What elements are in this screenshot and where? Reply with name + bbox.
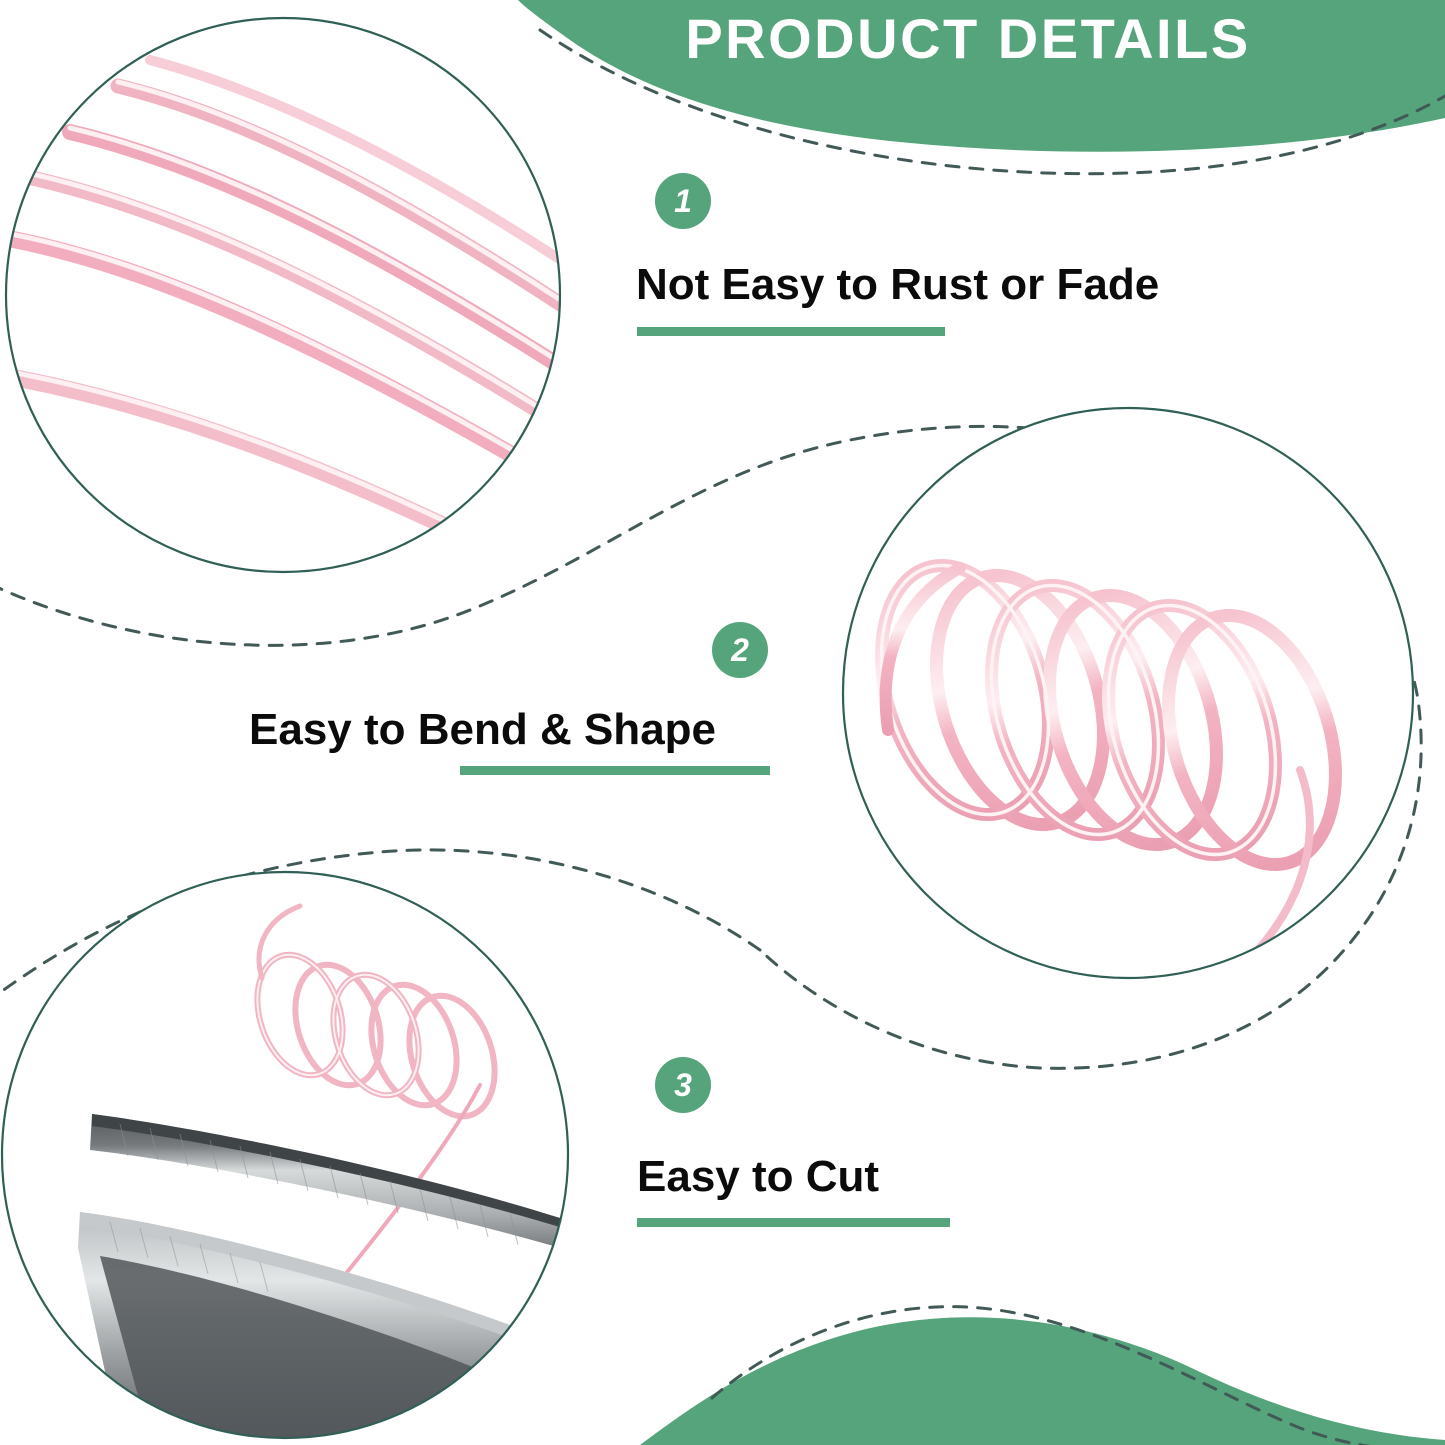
feature-title-2: Easy to Bend & Shape [249, 705, 716, 755]
feature-underline-3 [637, 1218, 950, 1227]
lower-blade [78, 1212, 610, 1440]
dashed-curve-around-coil [760, 470, 1421, 1068]
product-details-infographic: PRODUCT DETAILS 1 Not Easy to Rust or Fa… [0, 0, 1445, 1445]
feature-title-1: Not Easy to Rust or Fade [636, 260, 1159, 310]
step-number-badge-3: 3 [655, 1057, 711, 1113]
step-number-badge-1: 1 [655, 173, 711, 229]
page-title: PRODUCT DETAILS [618, 6, 1318, 71]
pink-wire-strands-photo [0, 18, 620, 604]
decorative-shapes-layer [0, 0, 1445, 1445]
feature-underline-1 [637, 327, 945, 336]
dashed-curve-lower-left [0, 850, 760, 1000]
upper-blade [90, 1114, 585, 1255]
pink-wire-coil-photo [843, 408, 1413, 1052]
wire-cutting-pliers-photo [2, 872, 610, 1440]
dashed-curve-bottom [712, 1307, 1445, 1445]
feature-underline-2 [460, 766, 770, 775]
step-number-badge-2: 2 [712, 622, 768, 678]
footer-green-shape [640, 1307, 1445, 1445]
dashed-curve-middle [0, 426, 1200, 645]
feature-title-3: Easy to Cut [637, 1152, 879, 1202]
